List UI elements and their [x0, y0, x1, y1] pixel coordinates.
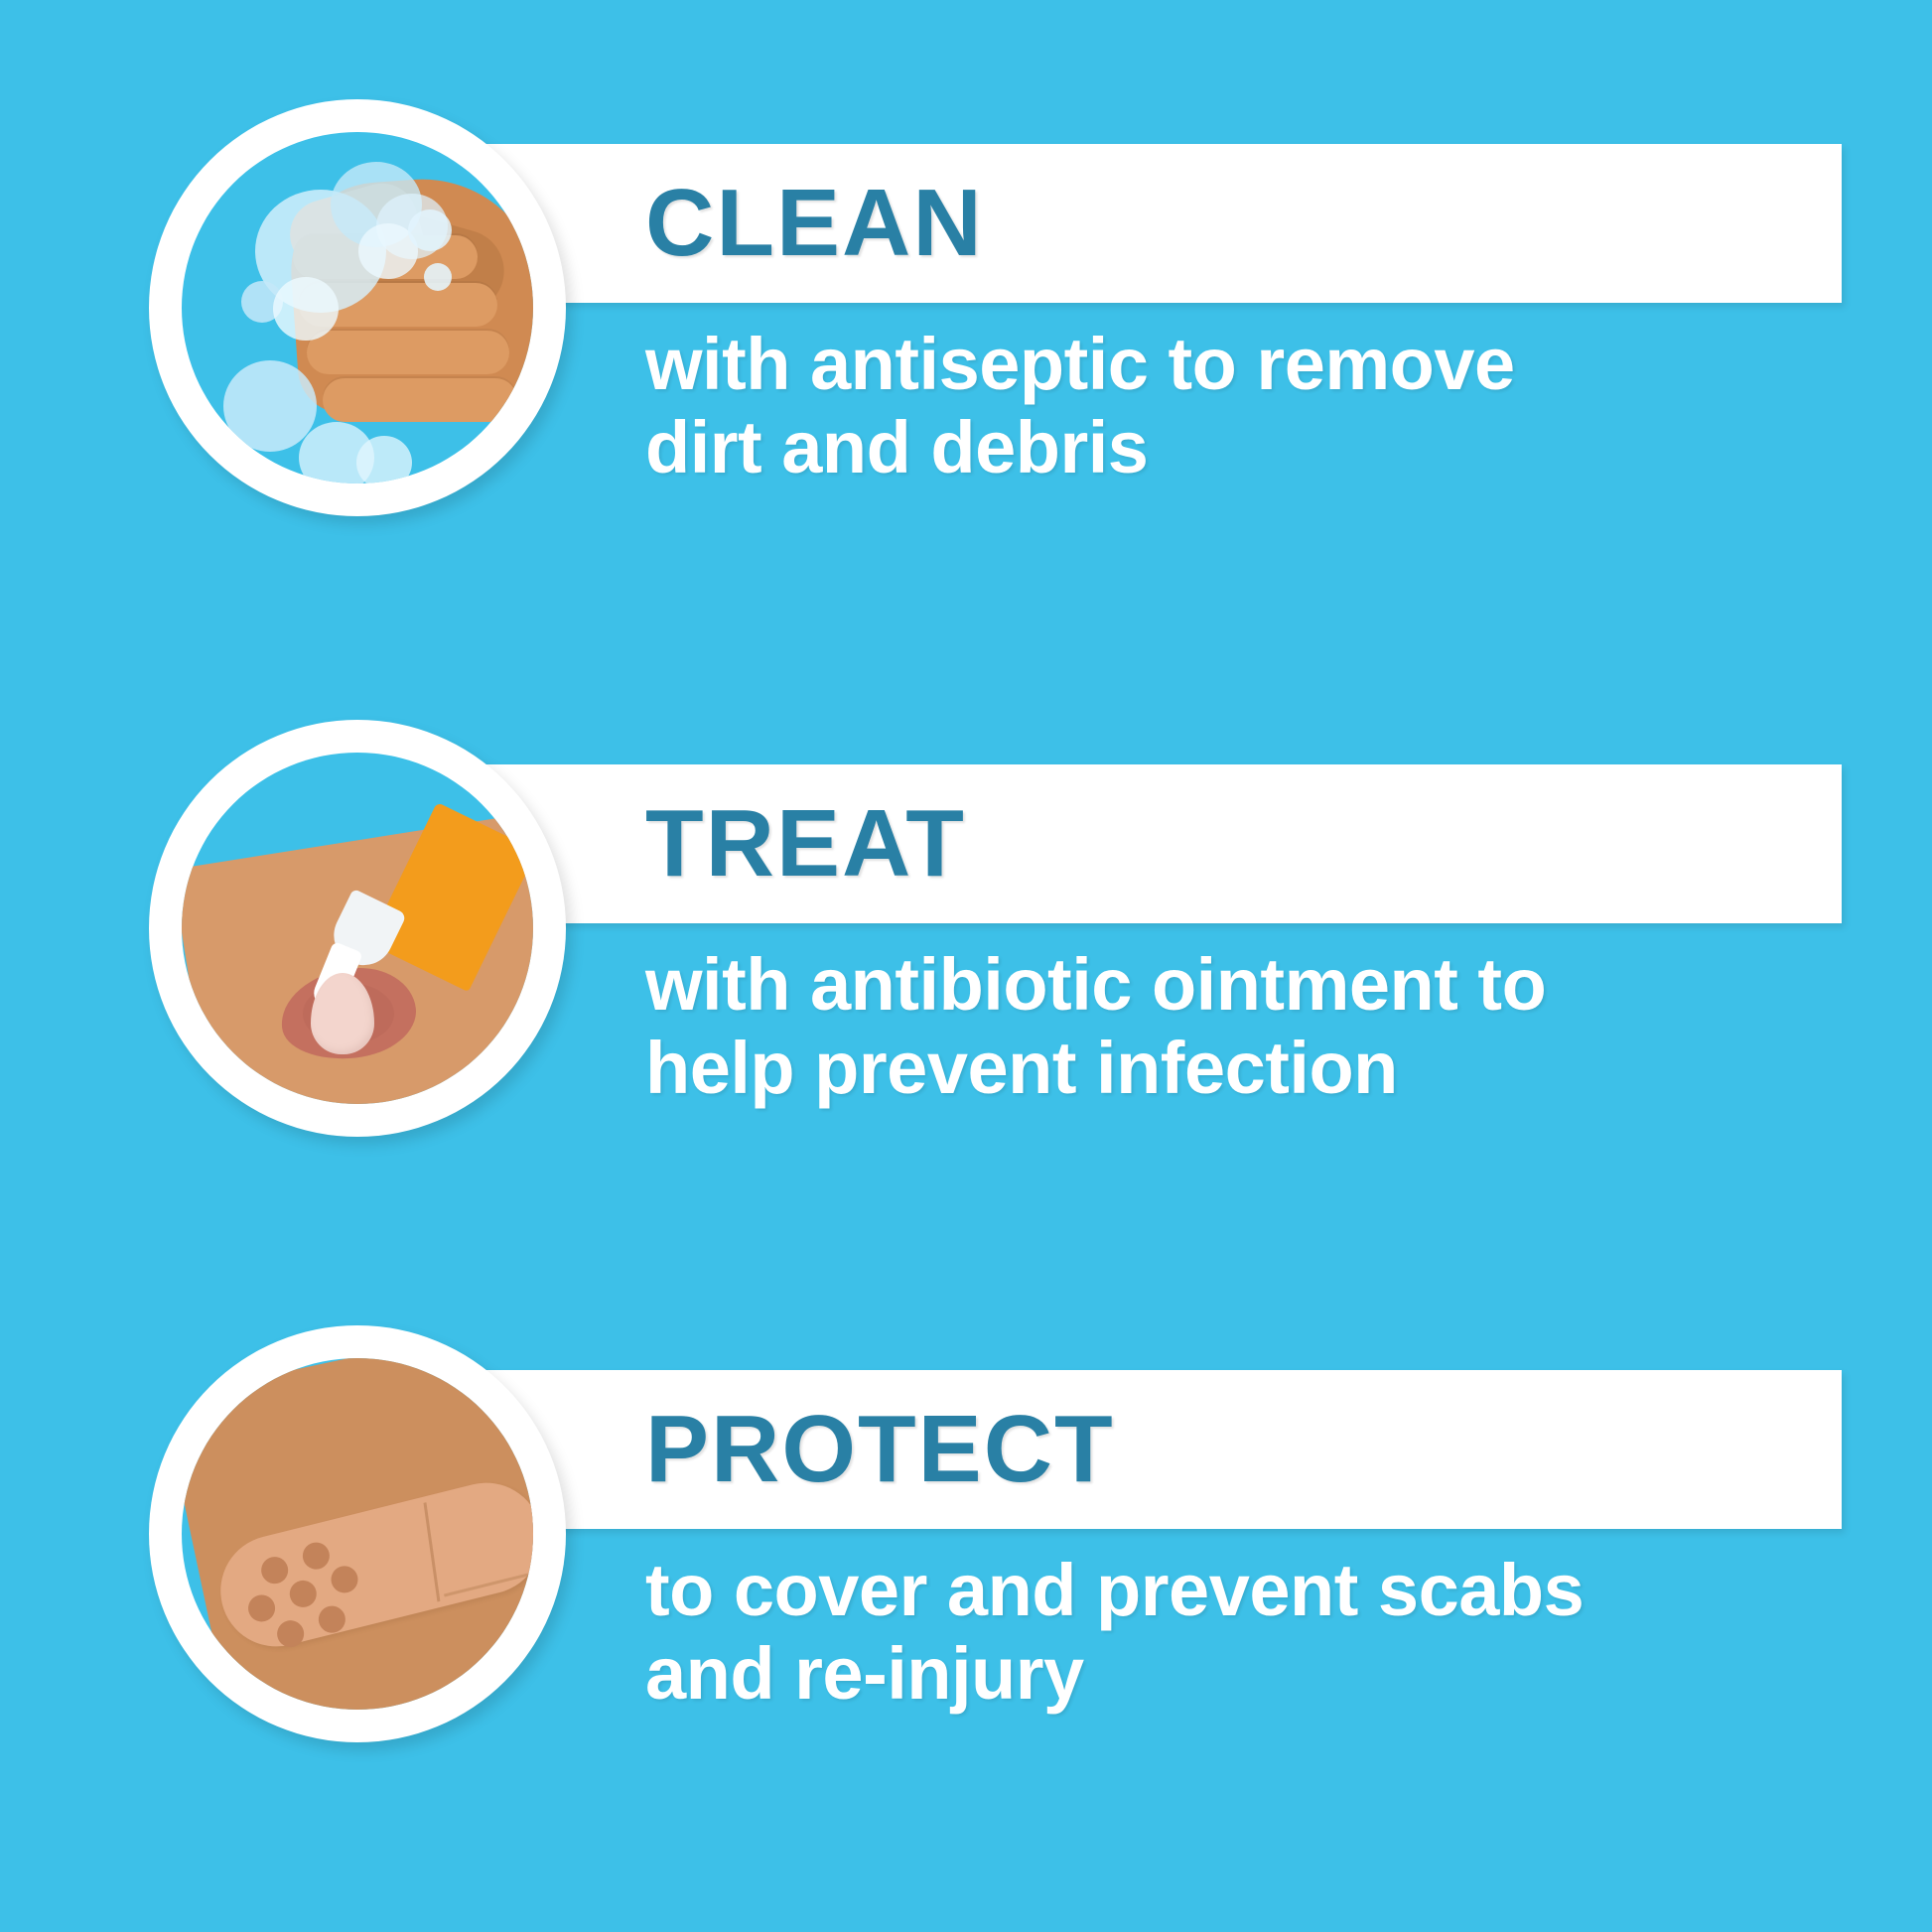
foam-bubble [356, 436, 412, 483]
foam-bubble [223, 360, 317, 452]
step-protect-body: to cover and prevent scabs and re-injury [645, 1549, 1866, 1715]
foam-bubble [424, 263, 452, 291]
step-protect-body-line1: to cover and prevent scabs [645, 1549, 1866, 1632]
bandage-hole [329, 1564, 361, 1596]
bandage-hole [300, 1540, 333, 1573]
step-clean-body-line2: dirt and debris [645, 406, 1866, 489]
foam-bubble [273, 277, 339, 341]
step-clean-body-line1: with antiseptic to remove [645, 323, 1866, 406]
step-clean: CLEAN with antiseptic to remove dirt and… [0, 99, 1932, 576]
step-protect-body-line2: and re-injury [645, 1632, 1866, 1716]
step-protect: PROTECT to cover and prevent scabs and r… [0, 1325, 1932, 1802]
finger-shape [307, 331, 509, 374]
step-protect-title: PROTECT [645, 1402, 1115, 1497]
bandage-hole [258, 1554, 291, 1587]
step-treat-body: with antibiotic ointment to help prevent… [645, 943, 1866, 1109]
bandage-hole [287, 1578, 320, 1610]
step-treat-title: TREAT [645, 796, 966, 892]
step-clean-body: with antiseptic to remove dirt and debri… [645, 323, 1866, 488]
step-protect-icon-badge [149, 1325, 566, 1742]
ointment-tube-on-wound-icon [182, 753, 533, 1104]
wound-care-infographic: CLEAN with antiseptic to remove dirt and… [0, 0, 1932, 1932]
step-treat-icon-badge [149, 720, 566, 1137]
step-treat-body-line2: help prevent infection [645, 1027, 1866, 1110]
finger-shape [323, 378, 517, 422]
adhesive-bandage-on-skin-icon [182, 1358, 533, 1710]
step-treat-body-line1: with antibiotic ointment to [645, 943, 1866, 1027]
bandage-hole [316, 1603, 348, 1636]
foam-bubble [408, 209, 452, 251]
bandage-fold-line [423, 1502, 440, 1601]
step-clean-icon-badge [149, 99, 566, 516]
bandage-hole [245, 1592, 278, 1625]
step-clean-title: CLEAN [645, 176, 984, 271]
step-treat: TREAT with antibiotic ointment to help p… [0, 720, 1932, 1196]
washing-hands-with-foam-icon [182, 132, 533, 483]
